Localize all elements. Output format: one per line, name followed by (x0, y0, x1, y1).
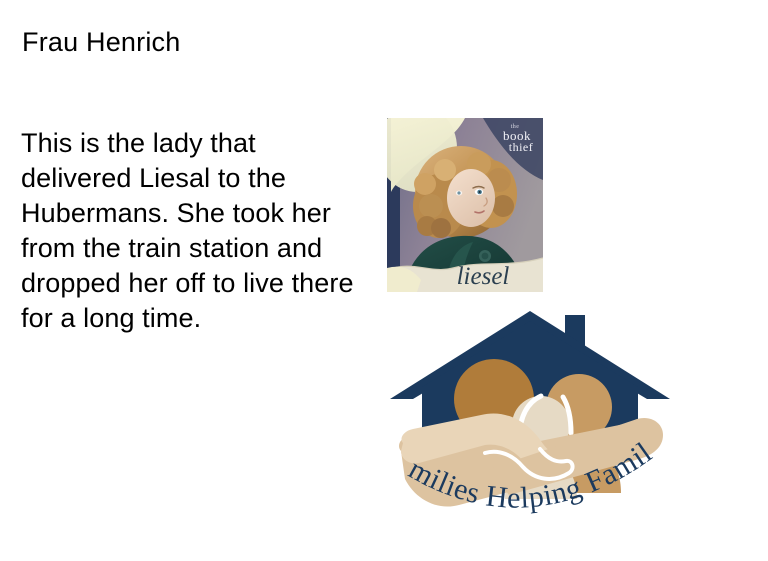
families-helping-families-logo: Families Helping Families (389, 303, 672, 529)
families-helping-families-graphic: Families Helping Families (389, 303, 672, 529)
book-thief-script-caption: liesel (457, 263, 510, 290)
page-title: Frau Henrich (22, 26, 442, 58)
slide-body-text: This is the lady that delivered Liesal t… (21, 126, 371, 336)
book-thief-photo-graphic: liesel the book thief (387, 118, 543, 292)
slide-canvas: Frau Henrich This is the lady that deliv… (0, 0, 768, 561)
svg-text:thief: thief (509, 140, 534, 154)
book-thief-liesel-photo: liesel the book thief (387, 118, 543, 292)
